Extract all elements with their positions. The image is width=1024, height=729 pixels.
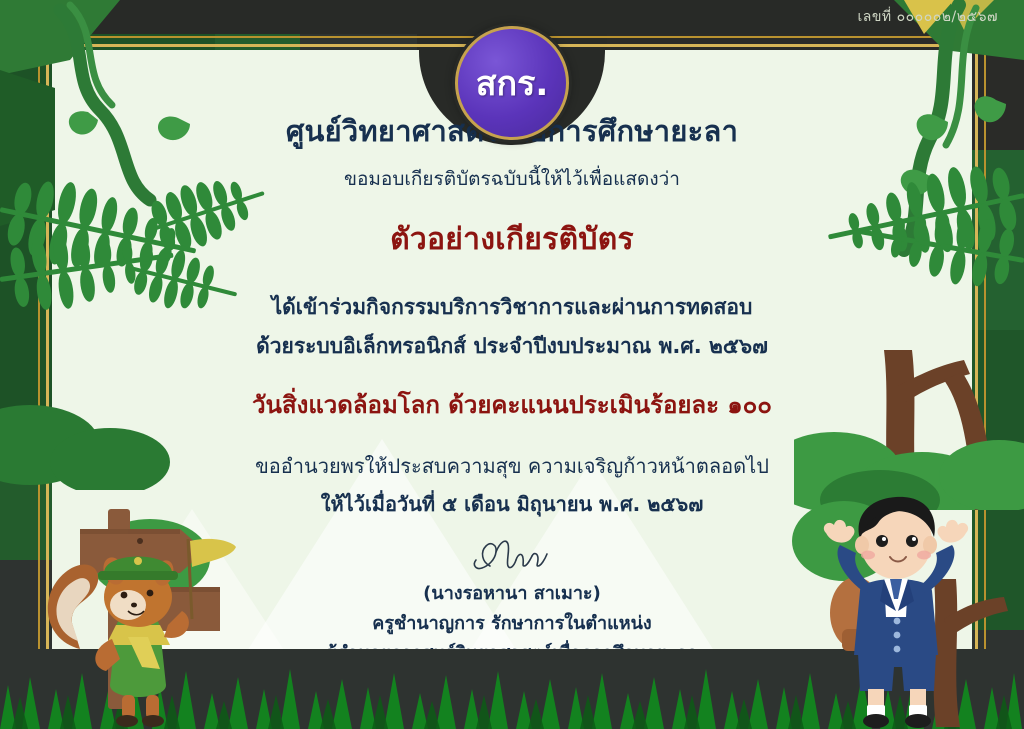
signer-office: ผู้อำนวยการศูนย์วิทยาศาสตร์เพื่อการศึกษา… (0, 638, 1024, 667)
body-line-1: ได้เข้าร่วมกิจกรรมบริการวิชาการและผ่านกา… (0, 291, 1024, 324)
blessing-line: ขออำนวยพรให้ประสบความสุข ความเจริญก้าวหน… (0, 450, 1024, 482)
issue-date-line: ให้ไว้เมื่อวันที่ ๕ เดือน มิถุนายน พ.ศ. … (0, 488, 1024, 520)
document-number: เลขที่ ๐๐๐๐๐๒/๒๕๖๗ (857, 6, 998, 28)
certificate-canvas: เลขที่ ๐๐๐๐๐๒/๒๕๖๗ สกร. ศูนย์วิทยาศาสตร์… (0, 0, 1024, 729)
emblem-label: สกร. (476, 67, 549, 101)
organization-emblem: สกร. (455, 26, 569, 140)
signature-icon (452, 532, 572, 578)
event-and-score-line: วันสิ่งแวดล้อมโลก ด้วยคะแนนประเมินร้อยละ… (0, 385, 1024, 424)
award-subtitle: ขอมอบเกียรติบัตรฉบับนี้ให้ไว้เพื่อแสดงว่… (0, 164, 1024, 194)
body-line-2: ด้วยระบบอิเล็กทรอนิกส์ ประจำปีงบประมาณ พ… (0, 330, 1024, 363)
signer-name: (นางรอหานา สาเมาะ) (0, 578, 1024, 607)
signature-area (0, 532, 1024, 576)
recipient-name: ตัวอย่างเกียรติบัตร (0, 216, 1024, 263)
signer-role: ครูชำนาญการ รักษาการในตำแหน่ง (0, 608, 1024, 637)
